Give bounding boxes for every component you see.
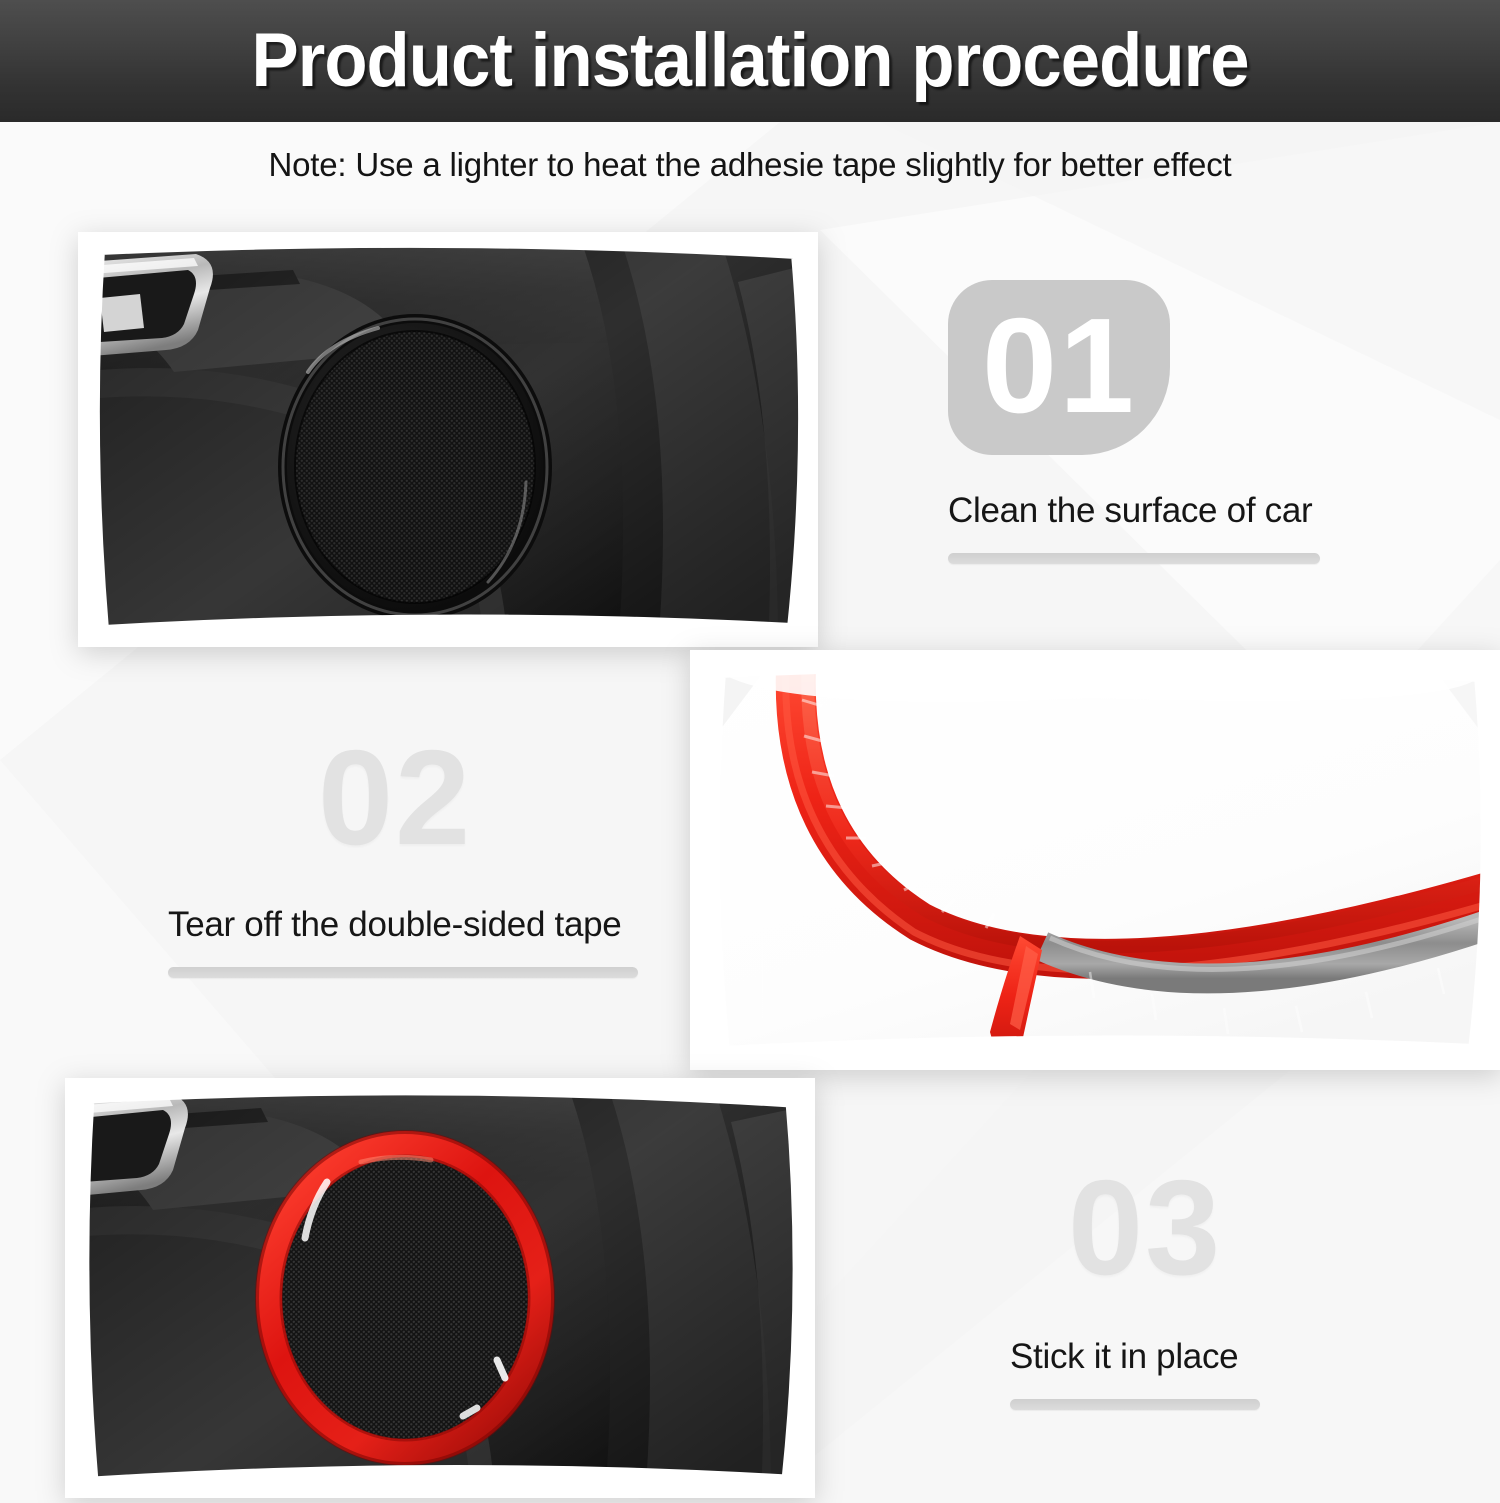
step-01-caption: Clean the surface of car — [948, 491, 1368, 531]
installation-note: Note: Use a lighter to heat the adhesie … — [0, 146, 1500, 184]
car-door-speaker-before-image — [78, 232, 818, 647]
step-number-badge-01: 01 — [948, 280, 1170, 455]
photo-step-03 — [65, 1078, 815, 1498]
step-02: 02 Tear off the double-sided tape — [168, 730, 688, 978]
step-03: 03 Stick it in place — [988, 1160, 1408, 1410]
red-ring-adhesive-tape-image — [690, 650, 1500, 1070]
page-title: Product installation procedure — [251, 23, 1248, 99]
header-banner: Product installation procedure — [0, 0, 1500, 122]
step-01: 01 Clean the surface of car — [948, 280, 1368, 564]
photo-step-02 — [690, 650, 1500, 1070]
car-door-speaker-after-image — [65, 1078, 815, 1498]
step-01-rule — [948, 553, 1320, 564]
speaker-grille — [278, 314, 552, 620]
step-03-caption: Stick it in place — [1010, 1337, 1408, 1377]
step-number-02: 02 — [318, 730, 688, 865]
step-number-03: 03 — [1068, 1160, 1408, 1295]
speaker-grille-with-red-ring — [257, 1132, 553, 1464]
step-03-rule — [1010, 1399, 1260, 1410]
step-02-caption: Tear off the double-sided tape — [168, 905, 688, 945]
step-02-rule — [168, 967, 638, 978]
photo-step-01 — [78, 232, 818, 647]
step-01-number-wrap: 01 — [948, 280, 1368, 455]
